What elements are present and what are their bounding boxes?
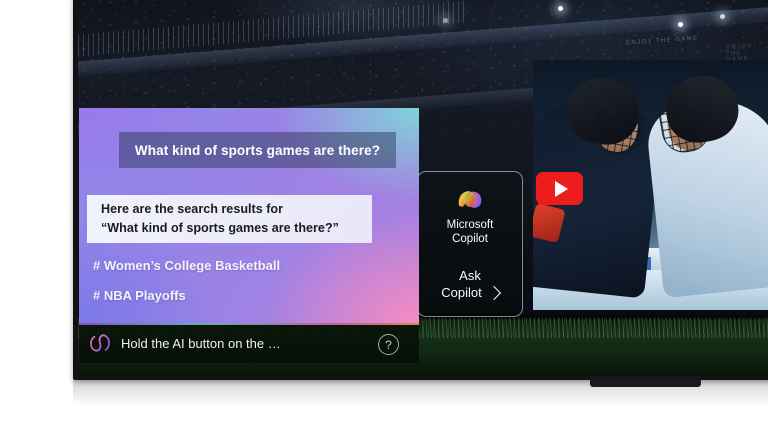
answer-line-2: “What kind of sports games are there?” <box>101 219 372 238</box>
screenshot-stage: ENJOY THE GAME ENJOY THE GAME <box>0 0 768 448</box>
ai-hint-text: Hold the AI button on the … <box>121 336 281 351</box>
question-mark-glyph: ? <box>385 339 392 351</box>
stadium-light <box>678 22 683 27</box>
ai-hint-bar: Hold the AI button on the … ? <box>79 323 419 363</box>
ai-loop-icon <box>88 332 112 354</box>
microsoft-copilot-logo <box>455 186 485 212</box>
answer-line-1: Here are the search results for <box>101 200 372 219</box>
question-mark-icon[interactable]: ? <box>378 334 399 355</box>
tv-reflection <box>73 380 768 406</box>
ask-copilot-line1: Ask <box>418 267 522 284</box>
stadium-light <box>443 18 448 23</box>
answer-card: Here are the search results for “What ki… <box>87 195 372 243</box>
play-triangle-icon <box>555 181 568 197</box>
copilot-title-line2: Copilot <box>452 233 488 245</box>
copilot-title: Microsoft Copilot <box>447 218 494 246</box>
chevron-right-icon <box>487 285 501 299</box>
ask-copilot-line2: Copilot <box>441 284 481 301</box>
ask-copilot-cta[interactable]: Ask Copilot <box>418 267 522 302</box>
copilot-card[interactable]: Microsoft Copilot Ask Copilot <box>417 171 523 317</box>
ai-bar-accent-line <box>79 323 419 325</box>
result-item-nba[interactable]: # NBA Playoffs <box>93 288 186 303</box>
result-item-basketball[interactable]: # Women’s College Basketball <box>93 258 280 273</box>
copilot-title-line1: Microsoft <box>447 219 494 231</box>
jersey-patch <box>533 203 566 243</box>
ai-results-panel: What kind of sports games are there? Her… <box>79 108 419 323</box>
stadium-light <box>720 14 725 19</box>
stadium-light <box>558 6 563 11</box>
user-query-text: What kind of sports games are there? <box>135 143 380 158</box>
user-query-bubble: What kind of sports games are there? <box>119 132 396 168</box>
youtube-play-icon[interactable] <box>536 172 583 205</box>
tv-screen: ENJOY THE GAME ENJOY THE GAME <box>78 0 768 375</box>
